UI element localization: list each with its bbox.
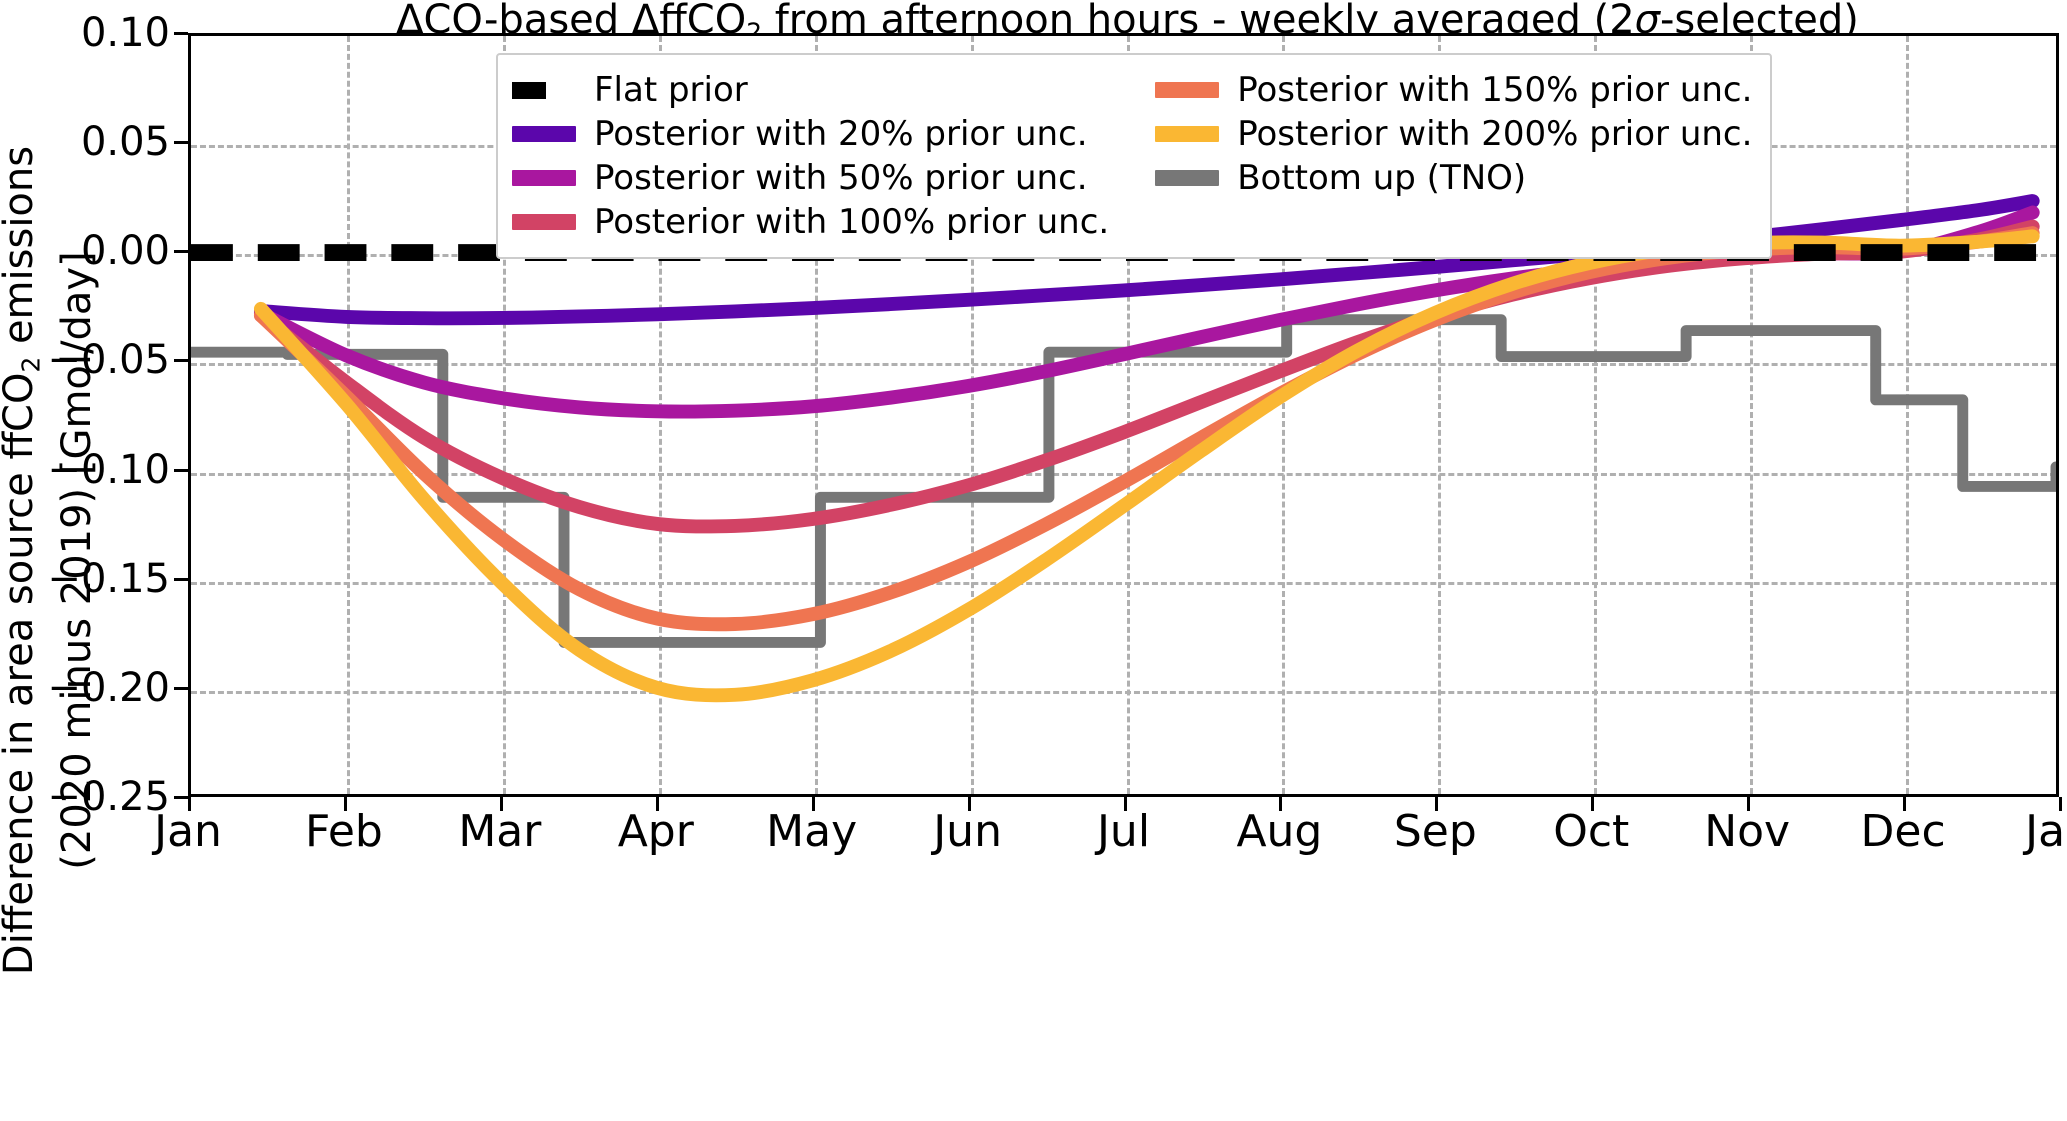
chart-legend: Flat priorPosterior with 150% prior unc.… [496, 53, 1772, 259]
x-tick-mark [344, 797, 347, 811]
legend-label-posterior-100: Posterior with 100% prior unc. [594, 204, 1109, 240]
chart-figure: ΔCO-based ΔffCO2 from afternoon hours - … [0, 0, 2067, 1121]
x-tick-mark [656, 797, 659, 811]
x-tick-mark [1124, 797, 1127, 811]
legend-label-posterior-50: Posterior with 50% prior unc. [594, 160, 1088, 196]
legend-swatch-posterior-200 [1155, 126, 1219, 142]
x-tick-mark [500, 797, 503, 811]
x-tick-label: Sep [1394, 806, 1477, 857]
x-tick-mark [2059, 797, 2062, 811]
x-tick-mark [812, 797, 815, 811]
legend-label-flat-prior: Flat prior [594, 72, 748, 108]
x-tick-mark [1903, 797, 1906, 811]
x-tick-mark [1435, 797, 1438, 811]
legend-swatch-posterior-50 [512, 170, 576, 186]
legend-entry-posterior-50[interactable]: Posterior with 50% prior unc. [512, 156, 1109, 200]
x-tick-label: Apr [618, 806, 694, 857]
x-tick-label: Jan [2025, 806, 2067, 857]
x-tick-mark [968, 797, 971, 811]
legend-swatch-flat-prior [512, 82, 576, 99]
legend-label-bottom-up-tno: Bottom up (TNO) [1237, 160, 1526, 196]
legend-entry-bottom-up-tno[interactable]: Bottom up (TNO) [1155, 156, 1752, 200]
x-tick-label: Aug [1236, 806, 1322, 857]
x-tick-mark [1747, 797, 1750, 811]
legend-swatch-posterior-20 [512, 126, 576, 142]
legend-swatch-posterior-100 [512, 214, 576, 230]
x-tick-label: Jun [933, 806, 1002, 857]
legend-entry-flat-prior[interactable]: Flat prior [512, 68, 1109, 112]
legend-entry-posterior-100[interactable]: Posterior with 100% prior unc. [512, 200, 1109, 244]
legend-entry-posterior-20[interactable]: Posterior with 20% prior unc. [512, 112, 1109, 156]
legend-spacer [1155, 200, 1752, 244]
x-tick-label: May [766, 806, 857, 857]
x-tick-label: Mar [458, 806, 541, 857]
x-tick-label: Jul [1097, 806, 1150, 857]
x-tick-label: Dec [1861, 806, 1946, 857]
x-tick-mark [1279, 797, 1282, 811]
legend-entry-posterior-200[interactable]: Posterior with 200% prior unc. [1155, 112, 1752, 156]
legend-swatch-posterior-150 [1155, 82, 1219, 98]
x-tick-label: Jan [154, 806, 222, 857]
legend-entry-posterior-150[interactable]: Posterior with 150% prior unc. [1155, 68, 1752, 112]
x-tick-mark [188, 797, 191, 811]
x-tick-label: Feb [305, 806, 383, 857]
legend-swatch-bottom-up-tno [1155, 170, 1219, 186]
legend-label-posterior-200: Posterior with 200% prior unc. [1237, 116, 1752, 152]
legend-label-posterior-20: Posterior with 20% prior unc. [594, 116, 1088, 152]
legend-label-posterior-150: Posterior with 150% prior unc. [1237, 72, 1752, 108]
x-tick-mark [1591, 797, 1594, 811]
x-tick-label: Oct [1553, 806, 1629, 857]
x-tick-label: Nov [1704, 806, 1790, 857]
